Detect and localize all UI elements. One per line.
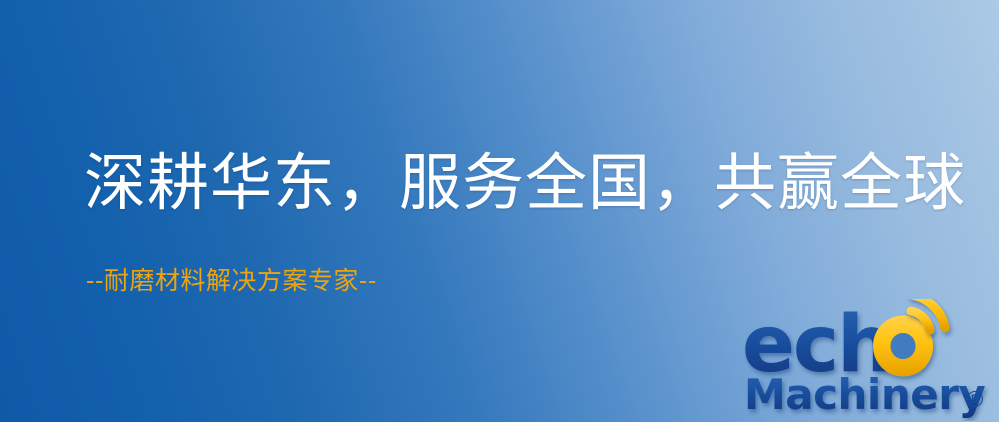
svg-text:Machinery: Machinery: [744, 370, 985, 419]
banner-headline: 深耕华东，服务全国，共赢全球: [84, 152, 966, 214]
promo-banner: 深耕华东，服务全国，共赢全球 --耐磨材料解决方案专家--: [0, 0, 999, 422]
registered-trademark-icon: ®: [964, 388, 986, 413]
banner-subtitle: --耐磨材料解决方案专家--: [86, 268, 377, 293]
echo-machinery-logo: ech Machinery ®: [742, 299, 994, 421]
logo-tagline: Machinery: [744, 370, 985, 419]
svg-text:®: ®: [964, 388, 986, 413]
